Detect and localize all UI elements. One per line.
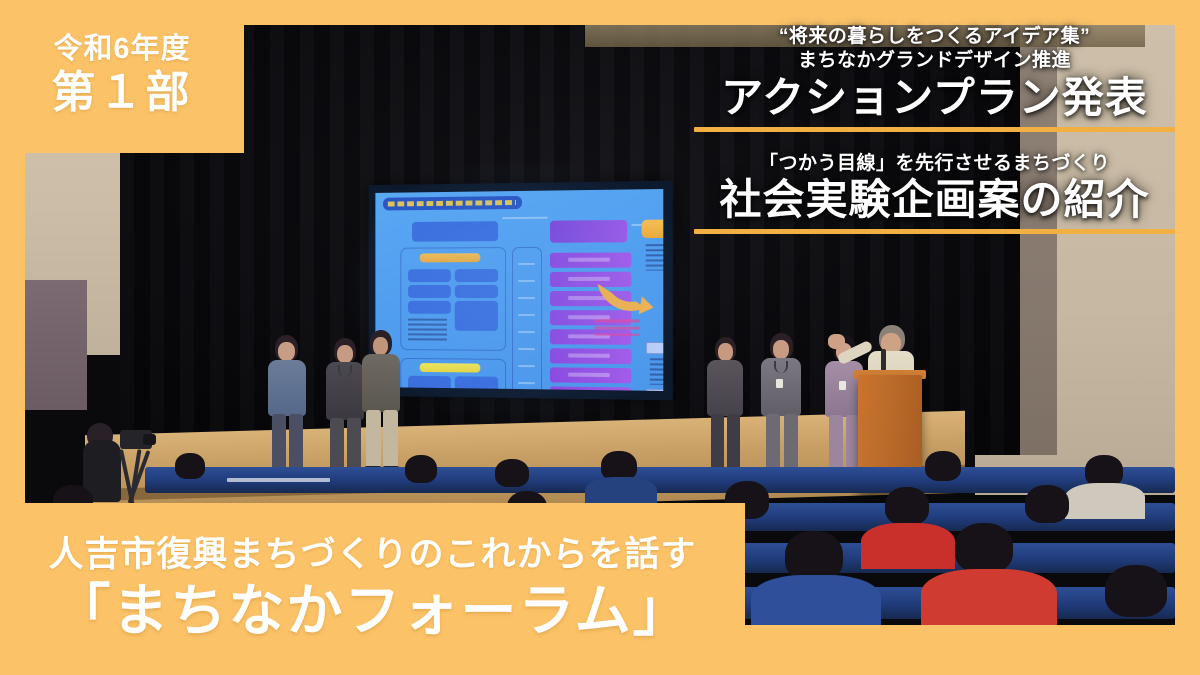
slide-title-bar (383, 196, 522, 211)
slide-tick-6 (518, 348, 535, 350)
slide-bar-8 (550, 386, 631, 391)
forum-subtitle: 人吉市復興まちづくりのこれからを話す (48, 535, 696, 575)
slide-bar-6 (550, 348, 631, 364)
slide-result-box-1 (646, 342, 664, 355)
slide-axis-column (512, 247, 542, 391)
fiscal-year-part-badge: 令和6年度 第１部 (0, 0, 244, 153)
social-experiment-underline (694, 229, 1175, 234)
slide-cell-6 (455, 301, 498, 331)
social-experiment-subtitle: 「つかう目線」を先行させるまちづくり (694, 152, 1175, 176)
slide-connector-a (502, 217, 548, 219)
part-number-label: 第１部 (52, 68, 193, 119)
speaker-hand (828, 334, 845, 349)
forum-title-block: 人吉市復興まちづくりのこれからを話す 「まちなかフォーラム」 (0, 503, 745, 675)
slide-tick-2 (518, 280, 535, 282)
slide-tick-8 (518, 382, 535, 384)
action-plan-underline (694, 127, 1175, 132)
social-experiment-headline: 社会実験企画案の紹介 (694, 176, 1175, 224)
slide-cell-1 (408, 269, 451, 282)
slide-cell-3 (408, 285, 451, 298)
forum-title: 「まちなかフォーラム」 (54, 579, 690, 643)
right-headline-stack: “将来の暮らしをつくるアイデア集” まちなかグランドデザイン推進 アクションプラ… (694, 25, 1175, 238)
hall-wall-left-panel (25, 280, 87, 410)
fiscal-year-label: 令和6年度 (53, 34, 190, 66)
camera-lens-icon (143, 434, 156, 445)
slide-tick-5 (518, 331, 535, 333)
slide-box-top-mid (550, 220, 627, 243)
projection-screen (369, 181, 673, 401)
slide-tick-7 (518, 365, 535, 367)
slide-result-note-1 (650, 358, 663, 385)
slide-bar-7 (550, 367, 631, 383)
slide-note-right-top (646, 244, 664, 271)
slide-result-box-2 (646, 389, 664, 391)
slide-cell-7 (408, 376, 451, 391)
presentation-slide (375, 189, 663, 391)
slide-cell-2 (455, 269, 498, 282)
action-plan-subtitle-1: “将来の暮らしをつくるアイデア集” (694, 25, 1175, 49)
slide-note-left (408, 319, 447, 341)
slide-cell-5 (408, 301, 451, 314)
action-plan-headline: アクションプラン発表 (694, 74, 1175, 122)
slide-label-orange (420, 253, 481, 262)
slide-tick-3 (518, 297, 535, 299)
headline-group-action-plan: “将来の暮らしをつくるアイデア集” まちなかグランドデザイン推進 アクションプラ… (694, 25, 1175, 136)
slide-cell-4 (455, 285, 498, 298)
microphone-icon (881, 349, 886, 371)
slide-tick-1 (518, 263, 535, 265)
slide-box-top-left (412, 221, 498, 242)
headline-group-social-experiment: 「つかう目線」を先行させるまちづくり 社会実験企画案の紹介 (694, 152, 1175, 238)
slide-pink-annotation (595, 319, 640, 335)
poster-canvas: 令和6年度 第１部 “将来の暮らしをつくるアイデア集” まちなかグランドデザイン… (0, 0, 1200, 675)
slide-box-top-right (642, 219, 664, 238)
slide-label-yellow (420, 363, 481, 373)
slide-cell-8 (455, 376, 498, 391)
slide-tick-4 (518, 314, 535, 316)
slide-connector-b (631, 224, 641, 226)
action-plan-subtitle-2: まちなかグランドデザイン推進 (694, 49, 1175, 73)
slide-bar-1 (550, 252, 631, 267)
